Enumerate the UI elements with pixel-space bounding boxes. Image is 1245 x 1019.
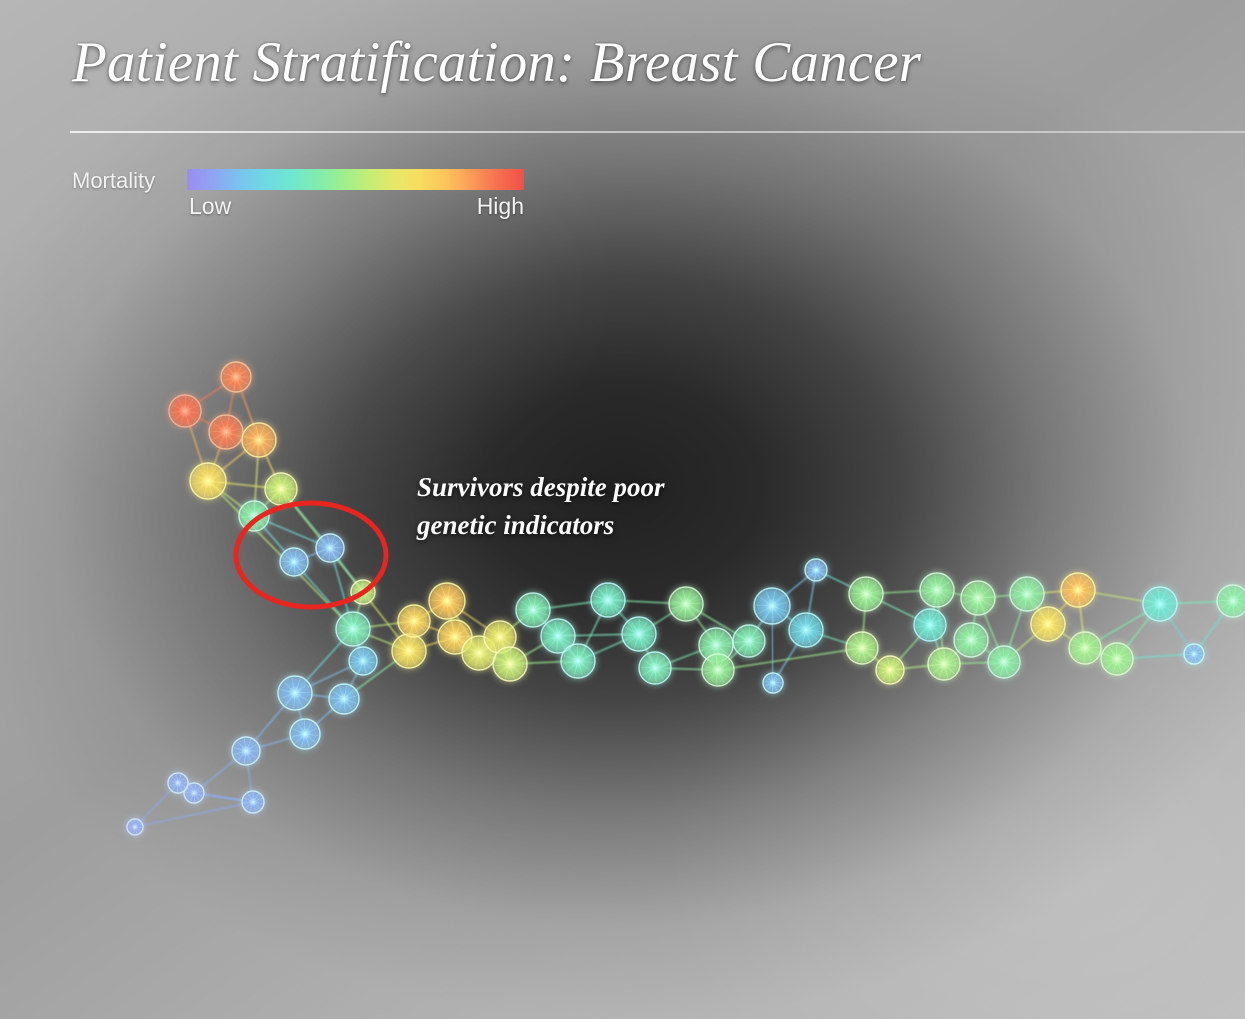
survivor-annotation-text: Survivors despite poor genetic indicator… bbox=[417, 468, 665, 545]
network-node[interactable] bbox=[242, 791, 264, 813]
page-title: Patient Stratification: Breast Cancer bbox=[72, 33, 921, 93]
network-node[interactable] bbox=[169, 395, 201, 427]
network-node[interactable] bbox=[1184, 644, 1204, 664]
network-node[interactable] bbox=[639, 652, 671, 684]
network-node[interactable] bbox=[329, 684, 359, 714]
slide-canvas: Patient Stratification: Breast Cancer Mo… bbox=[0, 0, 1245, 1019]
network-node[interactable] bbox=[1069, 632, 1101, 664]
node-spoke bbox=[207, 465, 208, 481]
legend-low-label: Low bbox=[189, 193, 231, 220]
network-node[interactable] bbox=[316, 534, 344, 562]
network-node[interactable] bbox=[392, 634, 426, 668]
network-node[interactable] bbox=[988, 646, 1020, 678]
network-nodes bbox=[127, 362, 1245, 835]
node-spoke bbox=[178, 782, 187, 783]
network-node[interactable] bbox=[221, 362, 251, 392]
network-node[interactable] bbox=[336, 612, 370, 646]
node-spoke bbox=[577, 646, 578, 661]
network-node[interactable] bbox=[849, 577, 883, 611]
network-node[interactable] bbox=[265, 473, 297, 505]
network-node[interactable] bbox=[493, 647, 527, 681]
network-node[interactable] bbox=[954, 623, 988, 657]
network-node[interactable] bbox=[1101, 643, 1133, 675]
node-spoke bbox=[773, 682, 782, 683]
network-node[interactable] bbox=[876, 656, 904, 684]
network-node[interactable] bbox=[928, 648, 960, 680]
network-node[interactable] bbox=[278, 676, 312, 710]
network-node[interactable] bbox=[242, 423, 276, 457]
title-divider bbox=[70, 131, 1245, 133]
network-node[interactable] bbox=[805, 559, 827, 581]
network-node[interactable] bbox=[209, 415, 243, 449]
legend-gradient-bar bbox=[187, 169, 524, 190]
network-node[interactable] bbox=[789, 613, 823, 647]
network-node[interactable] bbox=[290, 719, 320, 749]
network-node[interactable] bbox=[733, 625, 765, 657]
network-node[interactable] bbox=[754, 588, 790, 624]
network-node[interactable] bbox=[127, 819, 143, 835]
legend-title: Mortality bbox=[72, 168, 155, 194]
network-node[interactable] bbox=[349, 647, 377, 675]
network-node[interactable] bbox=[961, 581, 995, 615]
network-node[interactable] bbox=[1061, 573, 1095, 607]
network-node[interactable] bbox=[914, 609, 946, 641]
network-node[interactable] bbox=[846, 632, 878, 664]
network-node[interactable] bbox=[920, 573, 954, 607]
network-node[interactable] bbox=[1010, 577, 1044, 611]
node-spoke bbox=[478, 638, 479, 653]
network-node[interactable] bbox=[1031, 607, 1065, 641]
network-node[interactable] bbox=[280, 548, 308, 576]
legend-high-label: High bbox=[477, 193, 524, 220]
network-node[interactable] bbox=[1217, 585, 1245, 617]
network-node[interactable] bbox=[190, 463, 226, 499]
network-node[interactable] bbox=[516, 593, 550, 627]
network-node[interactable] bbox=[622, 617, 656, 651]
network-node[interactable] bbox=[429, 583, 465, 619]
network-edge bbox=[135, 802, 253, 827]
network-node[interactable] bbox=[702, 654, 734, 686]
network-node[interactable] bbox=[763, 673, 783, 693]
node-spoke bbox=[805, 615, 806, 630]
network-node[interactable] bbox=[1143, 587, 1177, 621]
network-node[interactable] bbox=[398, 605, 430, 637]
network-node[interactable] bbox=[168, 773, 188, 793]
network-node[interactable] bbox=[591, 583, 625, 617]
node-spoke bbox=[715, 630, 716, 645]
network-node[interactable] bbox=[561, 644, 595, 678]
network-node[interactable] bbox=[232, 737, 260, 765]
network-node[interactable] bbox=[669, 587, 703, 621]
